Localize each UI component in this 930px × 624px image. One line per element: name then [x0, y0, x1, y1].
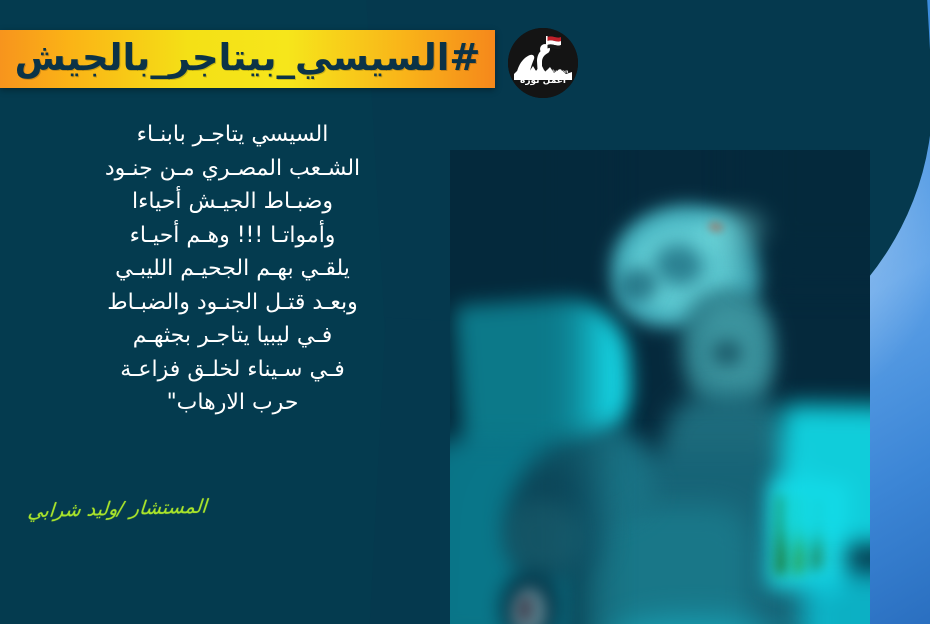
hashtag-banner: #السيسي_بيتاجر_بالجيش [0, 30, 495, 88]
body-text-line: الشـعب المصـري مـن جنـود [20, 152, 445, 186]
logo-artwork-icon [508, 28, 578, 98]
photo-region [750, 150, 870, 270]
main-body-text: السيسي يتاجـر بابنـاءالشـعب المصـري مـن … [20, 118, 445, 420]
body-text-line: وضبـاط الجيـش أحياءا [20, 185, 445, 219]
body-text-line: وأمواتـا !!! وهـم أحيـاء [20, 219, 445, 253]
body-text-line: يلقـي بهـم الجحيـم الليبـي [20, 252, 445, 286]
body-text-line: فـي سـيناء لخلـق فزاعـة [20, 353, 445, 387]
photo-region [450, 150, 590, 624]
logo-text-arabic: اعمل ثورة [508, 77, 578, 86]
body-text-line: حرب الارهاب" [20, 386, 445, 420]
body-text-line: وبعـد قتـل الجنـود والضبـاط [20, 286, 445, 320]
photo-region [712, 340, 742, 366]
soldier-photograph [450, 150, 870, 624]
body-text-line: فـي ليبيا يتاجـر بجثهـم [20, 319, 445, 353]
body-text-line: السيسي يتاجـر بابنـاء [20, 118, 445, 152]
logo-disc [508, 28, 578, 98]
photo-region [779, 404, 870, 546]
photo-region [801, 569, 870, 624]
make-a-revolution-logo[interactable]: Make a Revolution اعمل ثورة [508, 28, 578, 98]
poster-canvas: #السيسي_بيتاجر_بالجيش Make a Revolut [0, 0, 930, 624]
hashtag-text: #السيسي_بيتاجر_بالجيش [15, 36, 481, 82]
logo-text-english: Make a Revolution [508, 70, 578, 75]
soldier-photo-layers [450, 150, 870, 624]
